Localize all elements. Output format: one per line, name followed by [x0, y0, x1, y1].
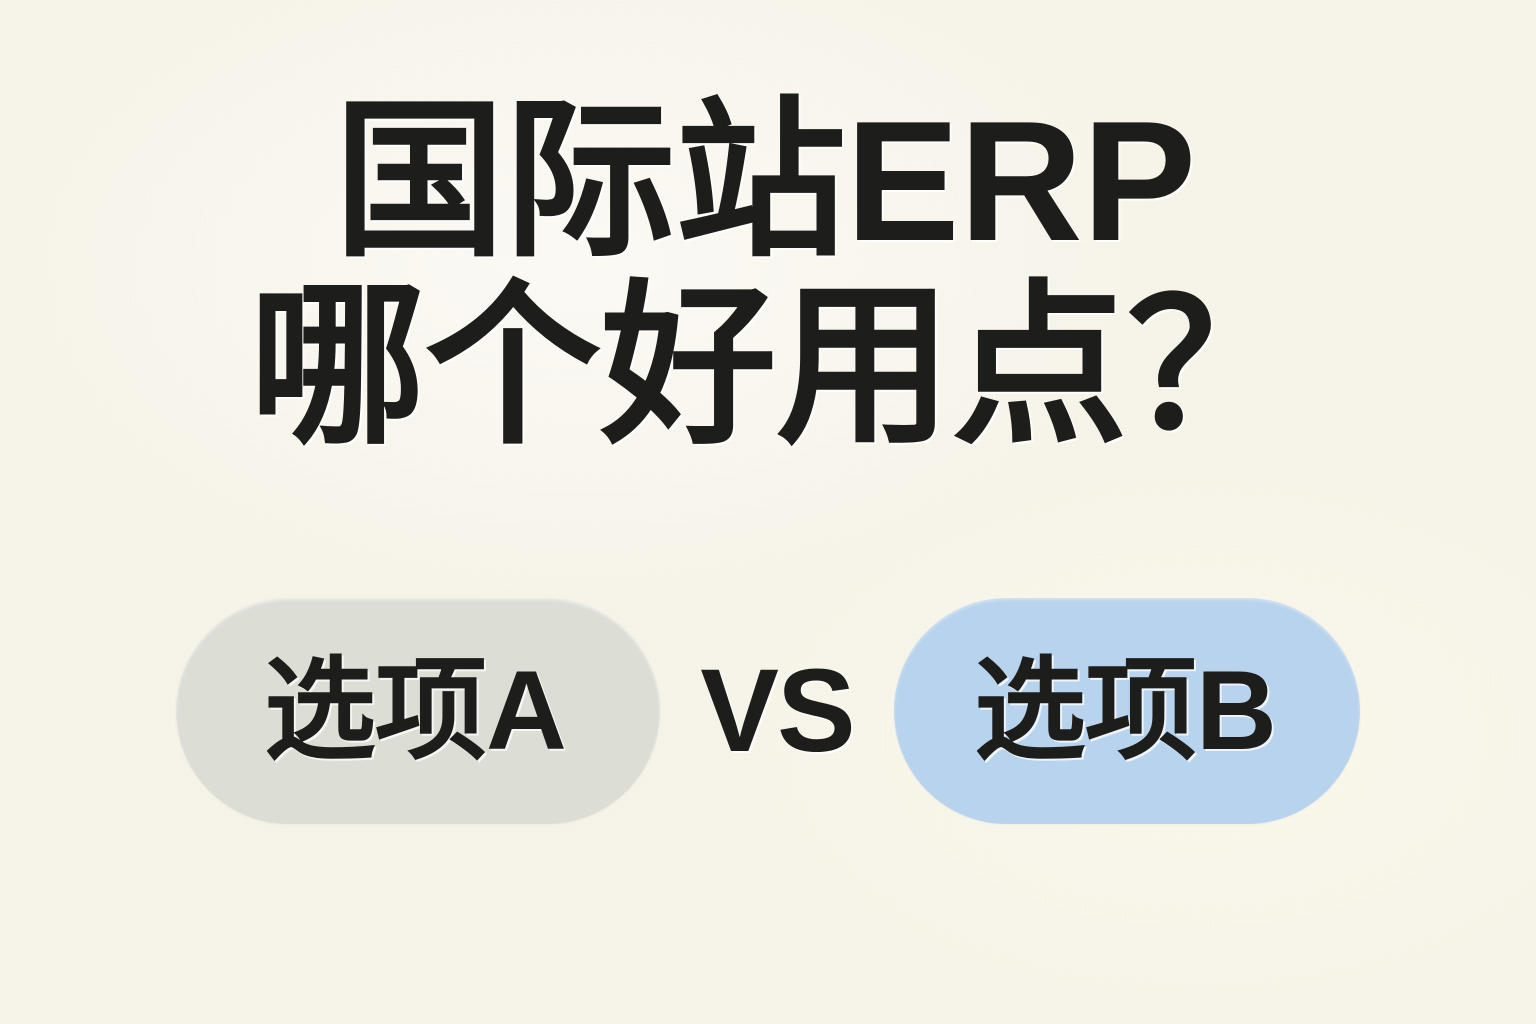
headline-line-2: 哪个好用点？ — [16, 279, 1536, 455]
option-a-label: 选项A — [264, 655, 566, 767]
headline-line-1: 国际站ERP — [0, 96, 1536, 267]
option-b-pill[interactable]: 选项B — [894, 598, 1360, 824]
versus-label: VS — [660, 652, 894, 770]
poster-canvas: 国际站ERP 哪个好用点？ 选项A VS 选项B — [0, 0, 1536, 1024]
option-b-label: 选项B — [974, 655, 1276, 767]
comparison-row: 选项A VS 选项B — [0, 596, 1536, 826]
page-title: 国际站ERP 哪个好用点？ — [0, 96, 1536, 455]
option-a-pill[interactable]: 选项A — [176, 598, 660, 824]
